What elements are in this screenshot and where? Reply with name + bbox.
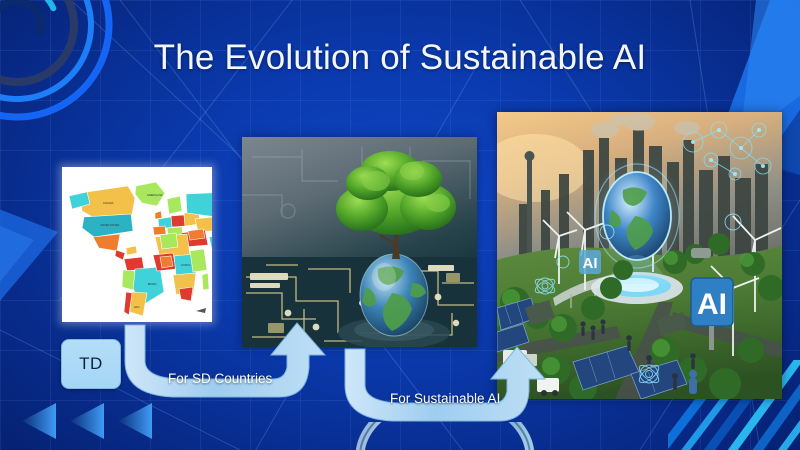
world-map-image[interactable]: UNITED STATES CANADA GREENLAND BRAZIL RU… bbox=[62, 167, 212, 322]
chevron-arrows-decoration bbox=[22, 400, 172, 442]
svg-text:UNITED STATES: UNITED STATES bbox=[100, 224, 120, 227]
td-node-label: TD bbox=[79, 354, 103, 374]
left-triangle-decoration bbox=[0, 190, 64, 310]
td-node-box[interactable]: TD bbox=[61, 339, 121, 389]
tree-circuit-image[interactable] bbox=[242, 137, 477, 347]
presentation-slide: The Evolution of Sustainable AI bbox=[0, 0, 800, 450]
arrow-sd-countries-label: For SD Countries bbox=[168, 371, 272, 386]
corner-arcs-decoration bbox=[0, 0, 152, 160]
svg-text:CONGO: CONGO bbox=[181, 264, 191, 267]
svg-text:BRAZIL: BRAZIL bbox=[148, 283, 157, 286]
arrow-sustainable-ai-label: For Sustainable AI bbox=[390, 391, 500, 406]
slide-title: The Evolution of Sustainable AI bbox=[0, 38, 800, 78]
svg-text:CANADA: CANADA bbox=[103, 202, 114, 205]
arrow-sustainable-ai[interactable] bbox=[341, 345, 556, 427]
arrow-sd-countries[interactable] bbox=[121, 321, 336, 403]
svg-text:ARG.: ARG. bbox=[134, 306, 140, 309]
svg-text:AI: AI bbox=[583, 255, 598, 272]
svg-text:GREENLAND: GREENLAND bbox=[147, 194, 163, 197]
svg-text:AI: AI bbox=[697, 288, 727, 321]
